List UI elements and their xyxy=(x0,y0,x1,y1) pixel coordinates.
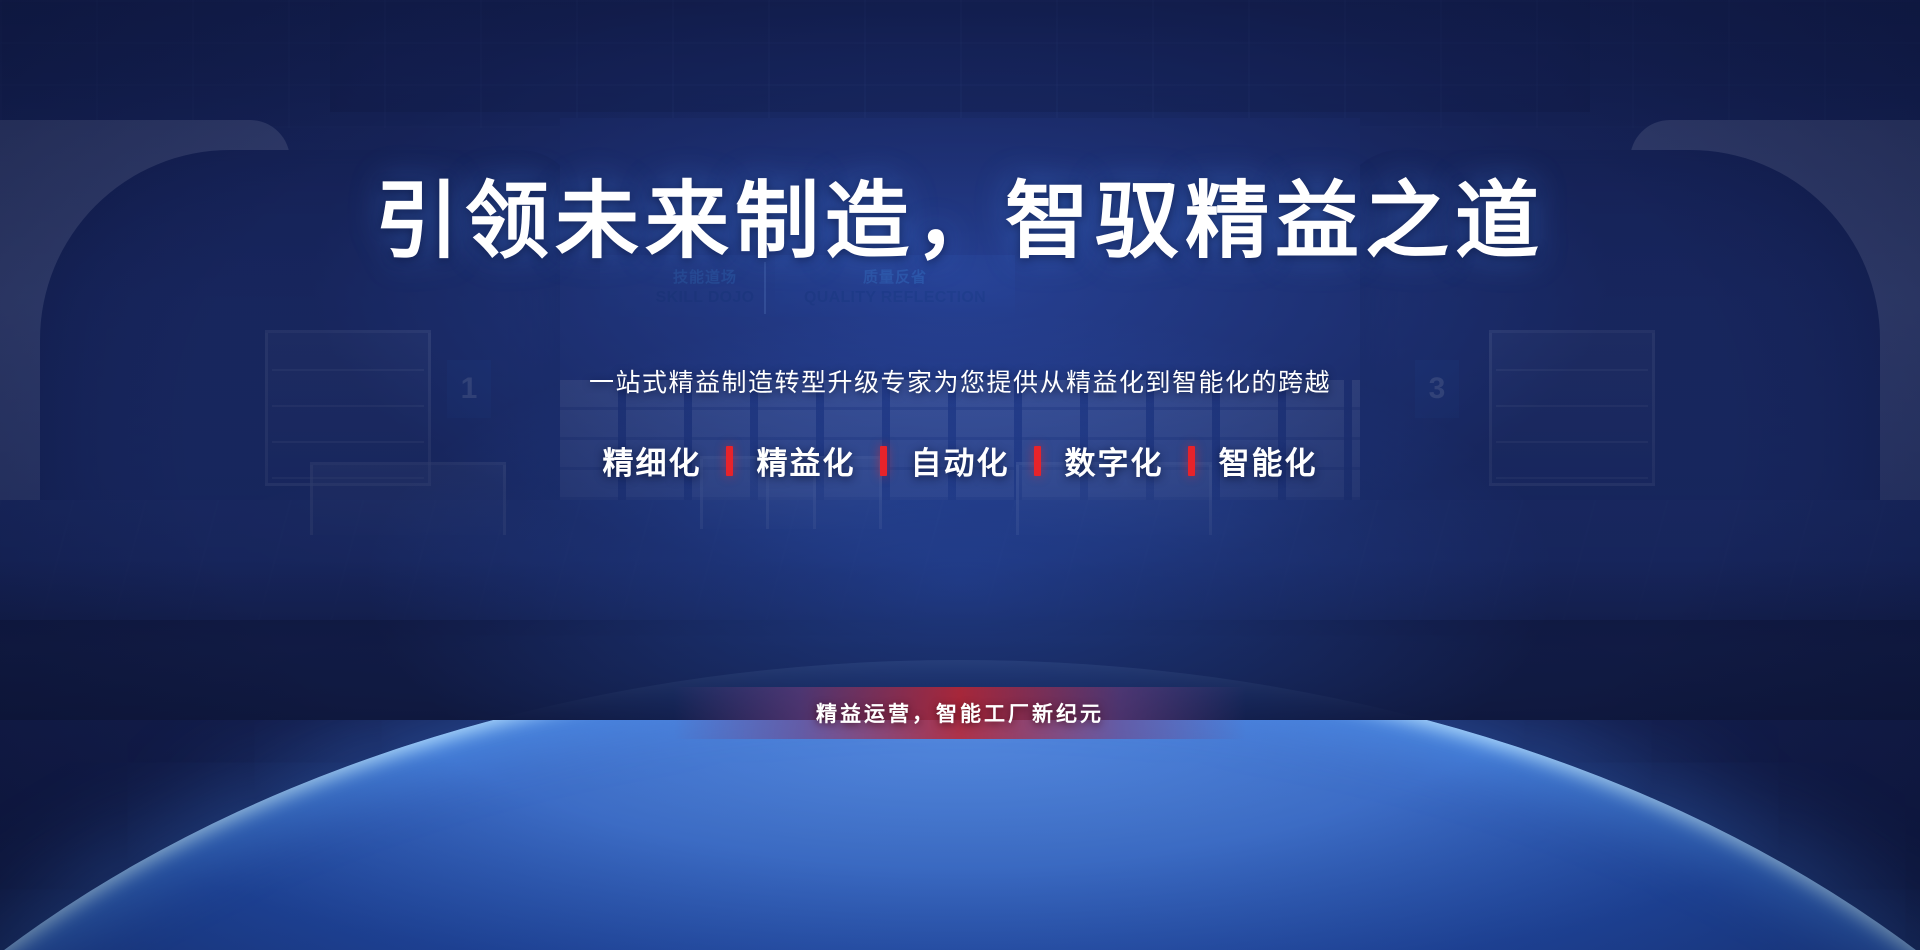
keyword-separator-icon xyxy=(1034,446,1041,476)
keyword-item: 自动化 xyxy=(887,438,1034,483)
hero-subtitle: 一站式精益制造转型升级专家为您提供从精益化到智能化的跨越 xyxy=(0,363,1920,399)
slogan-badge: 精益运营，智能工厂新纪元 xyxy=(674,687,1246,739)
hero-banner: 技能道场 SKILL DOJO 质量反省 QUALITY REFLECTION … xyxy=(0,0,1920,950)
keyword-item: 智能化 xyxy=(1195,438,1342,483)
keyword-list: 精细化 精益化 自动化 数字化 智能化 xyxy=(0,438,1920,483)
keyword-item: 精益化 xyxy=(733,438,880,483)
keyword-item: 精细化 xyxy=(579,438,726,483)
slogan-badge-text: 精益运营，智能工厂新纪元 xyxy=(816,698,1104,728)
hero-content: 引领未来制造，智驭精益之道 一站式精益制造转型升级专家为您提供从精益化到智能化的… xyxy=(0,0,1920,950)
keyword-separator-icon xyxy=(726,446,733,476)
keyword-item: 数字化 xyxy=(1041,438,1188,483)
keyword-separator-icon xyxy=(1188,446,1195,476)
keyword-separator-icon xyxy=(880,446,887,476)
page-title: 引领未来制造，智驭精益之道 xyxy=(0,154,1920,275)
